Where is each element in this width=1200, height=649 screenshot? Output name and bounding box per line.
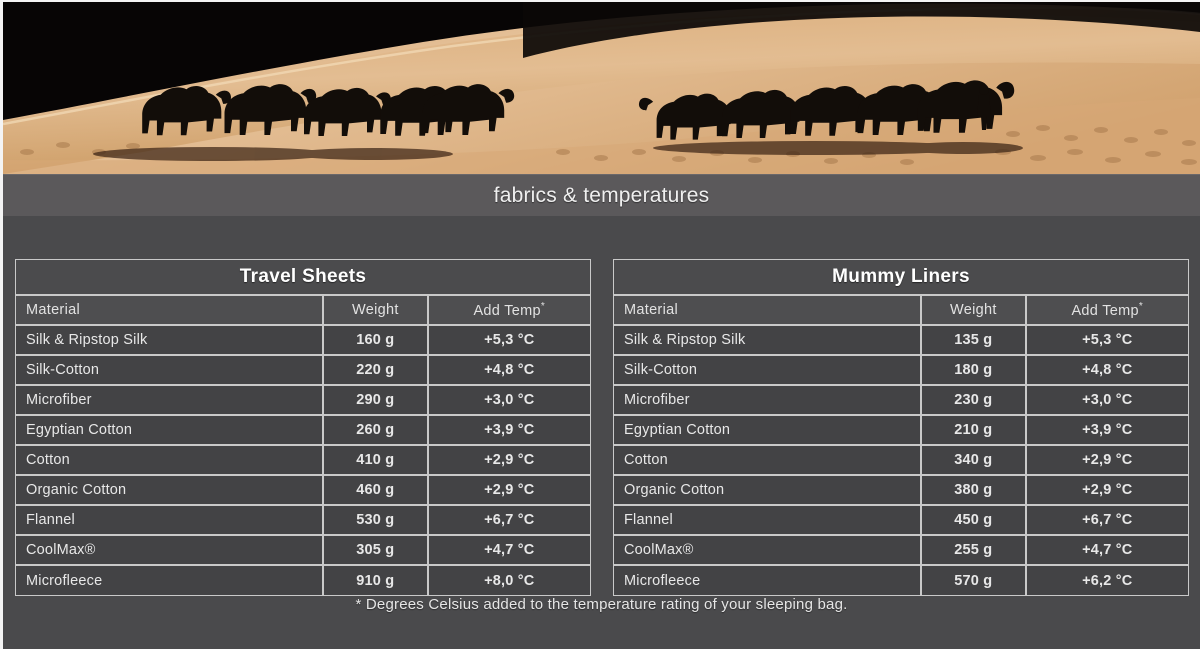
- cell-add-temp: +4,8 °C: [428, 355, 590, 385]
- cell-material: Silk-Cotton: [614, 355, 921, 385]
- table-header-row: Material Weight Add Temp*: [16, 295, 590, 325]
- cell-add-temp: +3,9 °C: [1026, 415, 1188, 445]
- cell-material: Microfleece: [16, 565, 323, 595]
- table-row[interactable]: Microfleece 910 g +8,0 °C: [16, 565, 590, 595]
- table-row[interactable]: Egyptian Cotton 210 g +3,9 °C: [614, 415, 1188, 445]
- travel-sheets-table: Travel Sheets Material Weight Add Temp* …: [16, 260, 590, 595]
- table-row[interactable]: Silk & Ripstop Silk 135 g +5,3 °C: [614, 325, 1188, 355]
- cell-weight: 530 g: [323, 505, 427, 535]
- cell-weight: 210 g: [921, 415, 1025, 445]
- cell-material: Microfiber: [16, 385, 323, 415]
- column-header-material[interactable]: Material: [16, 295, 323, 325]
- cell-material: CoolMax®: [614, 535, 921, 565]
- table-row[interactable]: Microfiber 290 g +3,0 °C: [16, 385, 590, 415]
- table-caption-mummy-liners: Mummy Liners: [614, 260, 1188, 295]
- cell-add-temp: +2,9 °C: [1026, 445, 1188, 475]
- cell-material: Egyptian Cotton: [614, 415, 921, 445]
- table-row[interactable]: Organic Cotton 460 g +2,9 °C: [16, 475, 590, 505]
- column-header-material[interactable]: Material: [614, 295, 921, 325]
- cell-weight: 260 g: [323, 415, 427, 445]
- mummy-liners-body: Silk & Ripstop Silk 135 g +5,3 °C Silk-C…: [614, 325, 1188, 595]
- cell-material: Organic Cotton: [614, 475, 921, 505]
- cell-add-temp: +4,7 °C: [428, 535, 590, 565]
- cell-weight: 135 g: [921, 325, 1025, 355]
- cell-weight: 255 g: [921, 535, 1025, 565]
- table-row[interactable]: Cotton 410 g +2,9 °C: [16, 445, 590, 475]
- table-row[interactable]: Silk & Ripstop Silk 160 g +5,3 °C: [16, 325, 590, 355]
- cell-add-temp: +6,2 °C: [1026, 565, 1188, 595]
- footnote-marker-icon: *: [1139, 301, 1143, 312]
- cell-add-temp: +5,3 °C: [428, 325, 590, 355]
- cell-weight: 410 g: [323, 445, 427, 475]
- table-row[interactable]: Organic Cotton 380 g +2,9 °C: [614, 475, 1188, 505]
- cell-material: Silk & Ripstop Silk: [614, 325, 921, 355]
- cell-weight: 460 g: [323, 475, 427, 505]
- table-header-row: Material Weight Add Temp*: [614, 295, 1188, 325]
- table-row[interactable]: Microfleece 570 g +6,2 °C: [614, 565, 1188, 595]
- cell-weight: 570 g: [921, 565, 1025, 595]
- cell-add-temp: +3,0 °C: [428, 385, 590, 415]
- cell-add-temp: +3,9 °C: [428, 415, 590, 445]
- tables-container: Travel Sheets Material Weight Add Temp* …: [3, 259, 1200, 596]
- cell-material: Flannel: [614, 505, 921, 535]
- content-panel: Travel Sheets Material Weight Add Temp* …: [3, 216, 1200, 649]
- cell-weight: 380 g: [921, 475, 1025, 505]
- table-caption-row: Travel Sheets: [16, 260, 590, 295]
- table-row[interactable]: Flannel 530 g +6,7 °C: [16, 505, 590, 535]
- cell-add-temp: +6,7 °C: [1026, 505, 1188, 535]
- cell-add-temp: +5,3 °C: [1026, 325, 1188, 355]
- cell-add-temp: +2,9 °C: [428, 445, 590, 475]
- cell-material: CoolMax®: [16, 535, 323, 565]
- column-header-add-temp[interactable]: Add Temp*: [428, 295, 590, 325]
- cell-weight: 220 g: [323, 355, 427, 385]
- table-row[interactable]: Cotton 340 g +2,9 °C: [614, 445, 1188, 475]
- fabrics-temperatures-page: fabrics & temperatures Travel Sheets Mat…: [0, 0, 1200, 649]
- cell-weight: 340 g: [921, 445, 1025, 475]
- cell-weight: 910 g: [323, 565, 427, 595]
- cell-weight: 230 g: [921, 385, 1025, 415]
- cell-material: Microfiber: [614, 385, 921, 415]
- cell-material: Microfleece: [614, 565, 921, 595]
- cell-add-temp: +6,7 °C: [428, 505, 590, 535]
- cell-material: Egyptian Cotton: [16, 415, 323, 445]
- table-row[interactable]: Silk-Cotton 220 g +4,8 °C: [16, 355, 590, 385]
- travel-sheets-body: Silk & Ripstop Silk 160 g +5,3 °C Silk-C…: [16, 325, 590, 595]
- cell-add-temp: +8,0 °C: [428, 565, 590, 595]
- cell-material: Flannel: [16, 505, 323, 535]
- mummy-liners-table: Mummy Liners Material Weight Add Temp* S…: [614, 260, 1188, 595]
- hero-desert-camels-image: [3, 2, 1200, 174]
- table-caption-travel-sheets: Travel Sheets: [16, 260, 590, 295]
- cell-weight: 180 g: [921, 355, 1025, 385]
- cell-add-temp: +4,8 °C: [1026, 355, 1188, 385]
- cell-weight: 305 g: [323, 535, 427, 565]
- cell-add-temp: +2,9 °C: [1026, 475, 1188, 505]
- cell-add-temp: +4,7 °C: [1026, 535, 1188, 565]
- table-mummy-liners: Mummy Liners Material Weight Add Temp* S…: [613, 259, 1189, 596]
- camel-caravan-icon: [3, 2, 1200, 174]
- cell-add-temp: +3,0 °C: [1026, 385, 1188, 415]
- table-row[interactable]: CoolMax® 255 g +4,7 °C: [614, 535, 1188, 565]
- cell-weight: 450 g: [921, 505, 1025, 535]
- table-row[interactable]: CoolMax® 305 g +4,7 °C: [16, 535, 590, 565]
- table-travel-sheets: Travel Sheets Material Weight Add Temp* …: [15, 259, 591, 596]
- cell-material: Cotton: [614, 445, 921, 475]
- cell-material: Cotton: [16, 445, 323, 475]
- column-header-add-temp[interactable]: Add Temp*: [1026, 295, 1188, 325]
- table-caption-row: Mummy Liners: [614, 260, 1188, 295]
- page-title: fabrics & temperatures: [494, 184, 710, 208]
- table-row[interactable]: Egyptian Cotton 260 g +3,9 °C: [16, 415, 590, 445]
- cell-material: Silk & Ripstop Silk: [16, 325, 323, 355]
- cell-material: Silk-Cotton: [16, 355, 323, 385]
- footnote-text: * Degrees Celsius added to the temperatu…: [3, 596, 1200, 613]
- table-row[interactable]: Flannel 450 g +6,7 °C: [614, 505, 1188, 535]
- table-row[interactable]: Silk-Cotton 180 g +4,8 °C: [614, 355, 1188, 385]
- column-header-add-temp-label: Add Temp: [473, 303, 540, 319]
- column-header-weight[interactable]: Weight: [921, 295, 1025, 325]
- cell-weight: 160 g: [323, 325, 427, 355]
- cell-weight: 290 g: [323, 385, 427, 415]
- page-title-band: fabrics & temperatures: [3, 174, 1200, 216]
- column-header-weight[interactable]: Weight: [323, 295, 427, 325]
- column-header-add-temp-label: Add Temp: [1071, 303, 1138, 319]
- footnote-marker-icon: *: [541, 301, 545, 312]
- cell-add-temp: +2,9 °C: [428, 475, 590, 505]
- cell-material: Organic Cotton: [16, 475, 323, 505]
- table-row[interactable]: Microfiber 230 g +3,0 °C: [614, 385, 1188, 415]
